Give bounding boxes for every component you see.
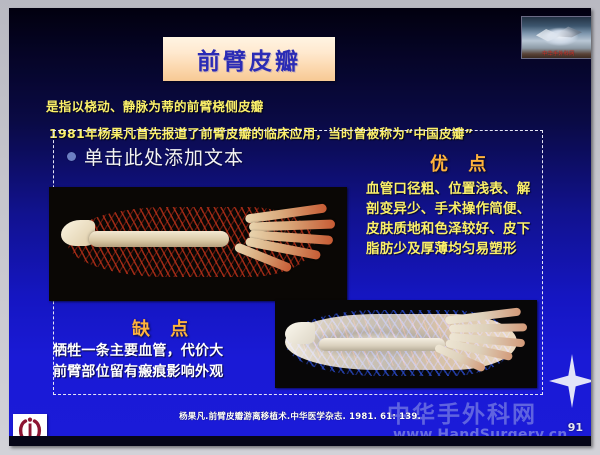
sparkle-star-icon [549,354,591,408]
pros-heading: 优 点 [430,150,493,176]
pros-line: 脂肪少及厚薄均匀易塑形 [366,239,588,259]
bullet-icon [67,152,76,161]
cons-body: 牺牲一条主要血管，代价大 前臂部位留有瘢痕影响外观 [53,341,223,383]
cons-line: 前臂部位留有瘢痕影响外观 [53,362,223,383]
eagle-icon [536,25,582,45]
pros-line: 皮肤质地和色泽较好、皮下 [366,219,588,239]
page-number: 91 [568,421,583,434]
footer-citation: 杨果凡.前臂皮瓣游离移植术.中华医学杂志. 1981. 61: 139. [9,410,591,422]
pros-line: 剖变异少、手术操作简便、 [366,199,588,219]
specimen-digit [249,220,335,232]
text-placeholder[interactable]: 单击此处添加文本 [67,143,244,170]
page-title: 前臂皮瓣 [197,42,301,76]
arterial-specimen-photo [49,187,347,301]
cons-line: 牺牲一条主要血管，代价大 [53,341,223,362]
slide-frame: 中华手外科网 前臂皮瓣 是指以桡动、静脉为蒂的前臂桡侧皮瓣 1981年杨果凡首先… [0,0,600,455]
eagle-badge-image: 中华手外科网 [521,16,591,59]
slide-canvas: 中华手外科网 前臂皮瓣 是指以桡动、静脉为蒂的前臂桡侧皮瓣 1981年杨果凡首先… [9,8,591,446]
specimen-proximal-bone [285,322,315,344]
slide-bottom-band [9,436,591,446]
pros-body: 血管口径粗、位置浅表、解 剖变异少、手术操作简便、 皮肤质地和色泽较好、皮下 脂… [366,179,588,259]
specimen-bone-shaft [89,231,229,247]
placeholder-prompt-label: 单击此处添加文本 [84,143,244,170]
title-box: 前臂皮瓣 [163,37,335,81]
specimen-digit [449,323,527,332]
pros-line: 血管口径粗、位置浅表、解 [366,179,588,199]
intro-line-1: 是指以桡动、静脉为蒂的前臂桡侧皮瓣 [46,96,264,115]
eagle-badge-caption: 中华手外科网 [522,50,591,57]
intro-line-2: 1981年杨果凡首先报道了前臂皮瓣的临床应用，当时曾被称为“中国皮瓣” [49,123,473,142]
specimen-bone-shaft [319,338,445,351]
cons-heading: 缺 点 [132,315,195,341]
arteriovenous-specimen-photo [275,300,537,388]
